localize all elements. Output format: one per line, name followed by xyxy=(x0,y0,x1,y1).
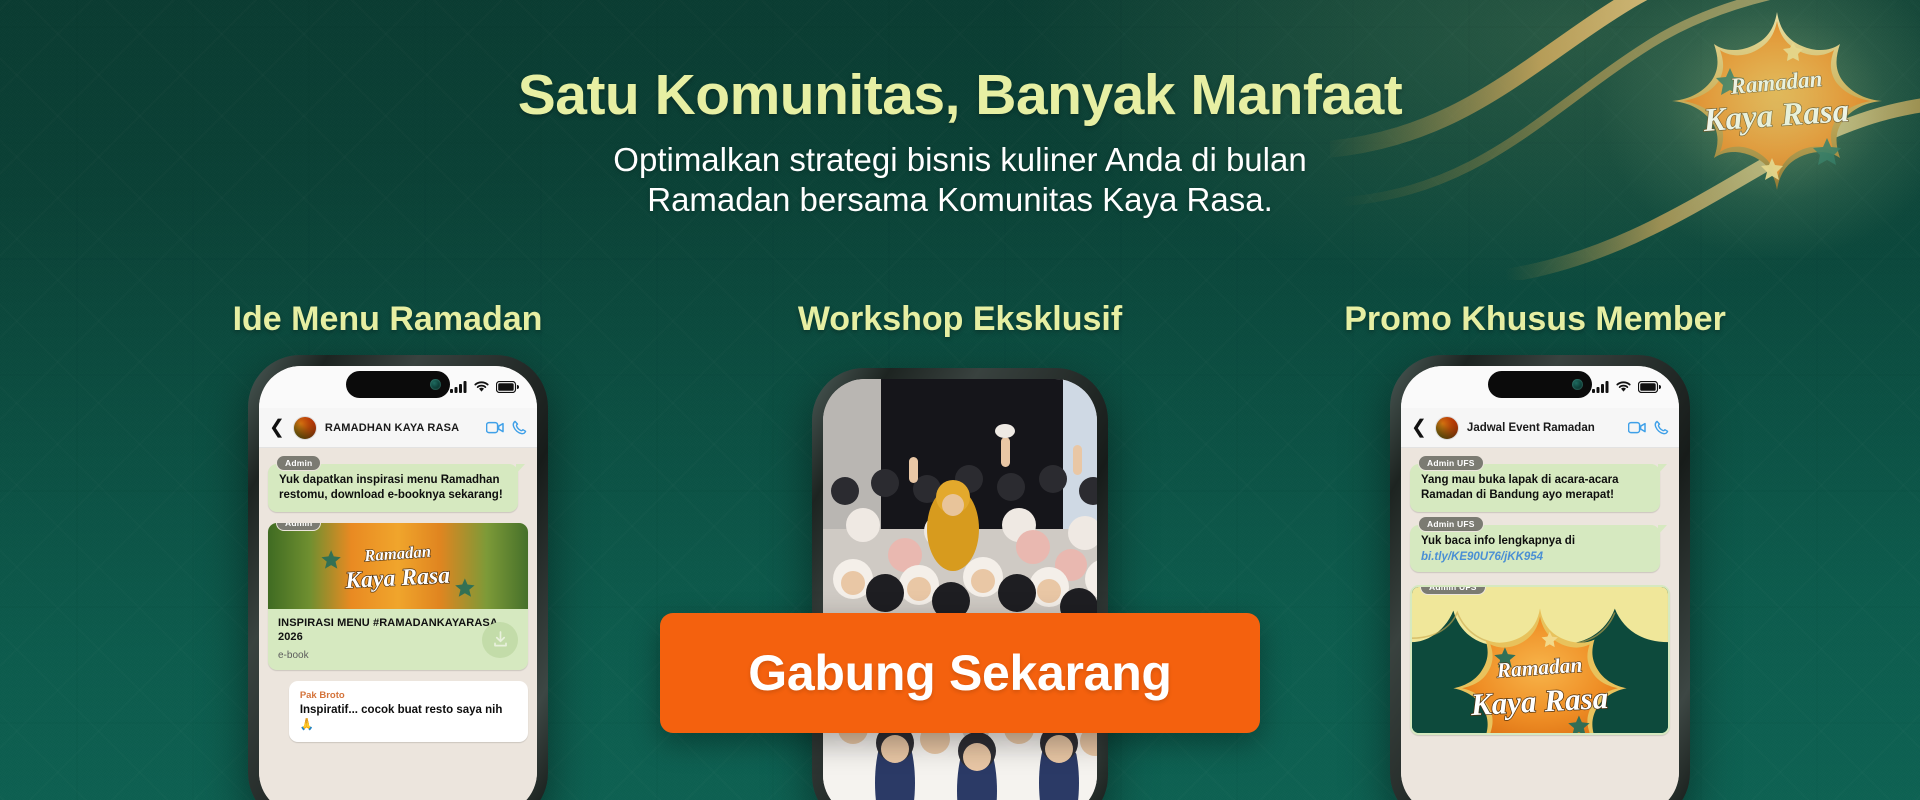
video-call-icon[interactable] xyxy=(1628,421,1646,434)
battery-icon xyxy=(496,381,519,393)
phone1-chat-body: Admin Yuk dapatkan inspirasi menu Ramadh… xyxy=(259,448,537,800)
front-camera-icon xyxy=(430,379,441,390)
chat-avatar xyxy=(1435,416,1459,440)
signal-bars-icon xyxy=(1592,381,1609,393)
event-poster-card[interactable]: Admin UFS xyxy=(1410,585,1670,735)
back-arrow-icon[interactable]: ❮ xyxy=(1411,418,1427,437)
phone1-chat-header: ❮ RAMADHAN KAYA RASA xyxy=(259,408,537,448)
voice-call-icon[interactable] xyxy=(1654,420,1669,435)
phone3-status-bar xyxy=(1401,366,1679,408)
subtitle-line-2: Ramadan bersama Komunitas Kaya Rasa. xyxy=(0,180,1920,220)
ebook-card[interactable]: Admin Ramadan Kaya Rasa INSPIRASI MENU #… xyxy=(268,523,528,670)
phone3-notch xyxy=(1488,371,1592,398)
chat-message-text: Yang mau buka lapak di acara-acara Ramad… xyxy=(1421,473,1649,503)
reply-message-text: Inspiratif... cocok buat resto saya nih … xyxy=(300,703,517,733)
badge-admin-ufs: Admin UFS xyxy=(1418,516,1484,532)
badge-admin-ufs: Admin UFS xyxy=(1418,455,1484,471)
ebook-cover-image: Ramadan Kaya Rasa xyxy=(268,523,528,609)
join-now-label: Gabung Sekarang xyxy=(748,644,1171,702)
join-now-button[interactable]: Gabung Sekarang xyxy=(660,613,1260,733)
badge-admin-ufs: Admin UFS xyxy=(1420,585,1486,595)
wifi-icon xyxy=(474,381,489,393)
wifi-icon xyxy=(1616,381,1631,393)
page-title: Satu Komunitas, Banyak Manfaat xyxy=(0,62,1920,128)
front-camera-icon xyxy=(1572,379,1583,390)
reply-sender-name: Pak Broto xyxy=(300,690,517,701)
chat-bubble-reply: Pak Broto Inspiratif... cocok buat resto… xyxy=(289,681,528,742)
badge-admin: Admin xyxy=(276,523,321,531)
phone2-screen xyxy=(823,379,1097,800)
phone-mockup-workshop xyxy=(812,368,1108,800)
phone3-chat-header: ❮ Jadwal Event Ramadan xyxy=(1401,408,1679,448)
phone1-chat-title: RAMADHAN KAYA RASA xyxy=(325,422,478,434)
poster-logo: Ramadan Kaya Rasa xyxy=(1412,587,1668,733)
phone1-status-bar xyxy=(259,366,537,408)
phone-mockup-promo: ❮ Jadwal Event Ramadan Admin UFS Yang ma… xyxy=(1390,355,1690,800)
chat-bubble-admin-1: Admin Yuk dapatkan inspirasi menu Ramadh… xyxy=(268,464,518,512)
workshop-group-photo xyxy=(823,379,1097,800)
download-icon[interactable] xyxy=(482,622,518,658)
ebook-cover-logo: Ramadan Kaya Rasa xyxy=(268,523,528,609)
phone3-chat-title: Jadwal Event Ramadan xyxy=(1467,422,1620,434)
phone3-header-actions xyxy=(1628,420,1669,435)
download-glyph xyxy=(492,631,509,648)
cover-logo-svg: Ramadan Kaya Rasa xyxy=(310,530,486,602)
chat-bubble-admin-ufs-2: Admin UFS Yuk baca info lengkapnya di bi… xyxy=(1410,525,1660,571)
battery-icon xyxy=(1638,381,1661,393)
phone3-chat-body: Admin UFS Yang mau buka lapak di acara-a… xyxy=(1401,448,1679,800)
chat-bubble-admin-ufs-1: Admin UFS Yang mau buka lapak di acara-a… xyxy=(1410,464,1660,512)
voice-call-icon[interactable] xyxy=(512,420,527,435)
phone3-screen: ❮ Jadwal Event Ramadan Admin UFS Yang ma… xyxy=(1401,366,1679,800)
back-arrow-icon[interactable]: ❮ xyxy=(269,418,285,437)
chat-message-text: Yuk dapatkan inspirasi menu Ramadhan res… xyxy=(279,473,507,503)
page-subtitle: Optimalkan strategi bisnis kuliner Anda … xyxy=(0,140,1920,221)
signal-bars-icon xyxy=(450,381,467,393)
ebook-card-body: INSPIRASI MENU #RAMADANKAYARASA 2026 e-b… xyxy=(268,609,528,670)
badge-admin: Admin xyxy=(276,455,321,471)
subtitle-line-1: Optimalkan strategi bisnis kuliner Anda … xyxy=(0,140,1920,180)
cover-logo-line2: Kaya Rasa xyxy=(344,563,451,595)
group-photo-illustration xyxy=(823,379,1097,800)
column-heading-promo: Promo Khusus Member xyxy=(1150,300,1920,339)
poster-logo-line2: Kaya Rasa xyxy=(1469,680,1609,722)
phone-mockup-ide-menu: ❮ RAMADHAN KAYA RASA Admin Yuk dapatkan … xyxy=(248,355,548,800)
phone1-notch xyxy=(346,371,450,398)
chat-avatar xyxy=(293,416,317,440)
phone1-header-actions xyxy=(486,420,527,435)
chat-message-link[interactable]: bi.tly/KE90U76/jKK954 xyxy=(1421,551,1649,563)
chat-message-text: Yuk baca info lengkapnya di xyxy=(1421,534,1649,549)
ebook-subtitle: e-book xyxy=(278,650,518,661)
phone1-screen: ❮ RAMADHAN KAYA RASA Admin Yuk dapatkan … xyxy=(259,366,537,800)
cover-logo-line1: Ramadan xyxy=(363,542,432,566)
video-call-icon[interactable] xyxy=(486,421,504,434)
